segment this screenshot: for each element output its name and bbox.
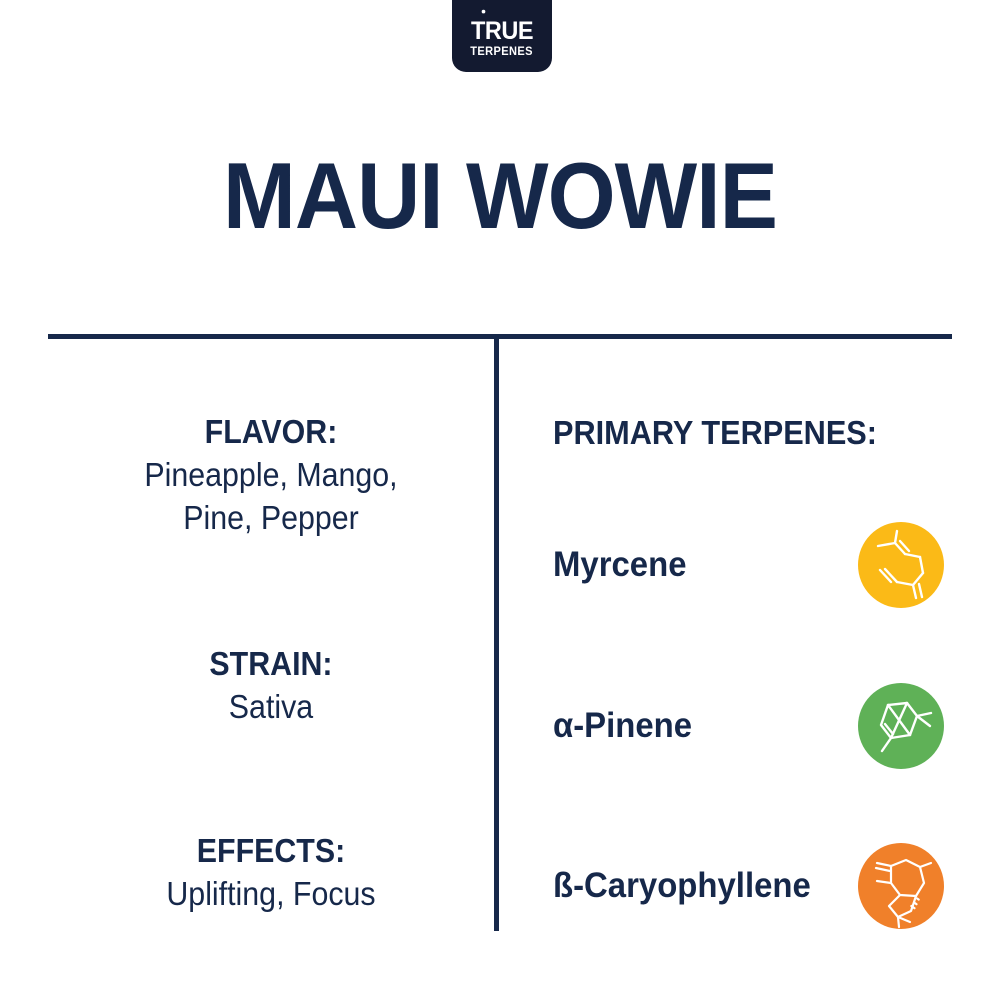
terpene-name-alpha-pinene: α-Pinene [553,706,692,746]
terpene-name-myrcene: Myrcene [553,545,687,585]
brand-wordmark-true: TRUE [471,19,533,44]
beta-caryophyllene-molecule-icon [858,843,944,929]
fact-flavor: FLAVOR: Pineapple, Mango,Pine, Pepper [48,413,494,540]
fact-strain: STRAIN: Sativa [48,645,494,729]
alpha-pinene-molecule-icon [858,683,944,769]
primary-terpenes-heading: PRIMARY TERPENES: [553,414,877,452]
fact-effects-value: Uplifting, Focus [66,873,476,916]
fact-effects-label: EFFECTS: [66,832,476,871]
strain-details-column: FLAVOR: Pineapple, Mango,Pine, Pepper ST… [48,334,494,974]
terpene-row: Myrcene [499,520,1000,610]
myrcene-molecule-icon [858,522,944,608]
brand-wordmark-terpenes: TERPENES [471,47,534,59]
fact-flavor-label: FLAVOR: [66,413,476,452]
fact-flavor-value: Pineapple, Mango,Pine, Pepper [66,454,476,540]
fact-strain-value: Sativa [66,686,476,729]
terpene-row: α-Pinene [499,681,1000,771]
terpene-row: ß-Caryophyllene [499,841,1000,931]
page-title: MAUI WOWIE [35,149,965,243]
fact-strain-label: STRAIN: [66,645,476,684]
brand-logo-badge: TRUE TERPENES [452,0,552,72]
fact-effects: EFFECTS: Uplifting, Focus [48,832,494,916]
terpene-name-beta-caryophyllene: ß-Caryophyllene [553,866,811,906]
primary-terpenes-column: PRIMARY TERPENES: Myrcene [499,334,1000,974]
